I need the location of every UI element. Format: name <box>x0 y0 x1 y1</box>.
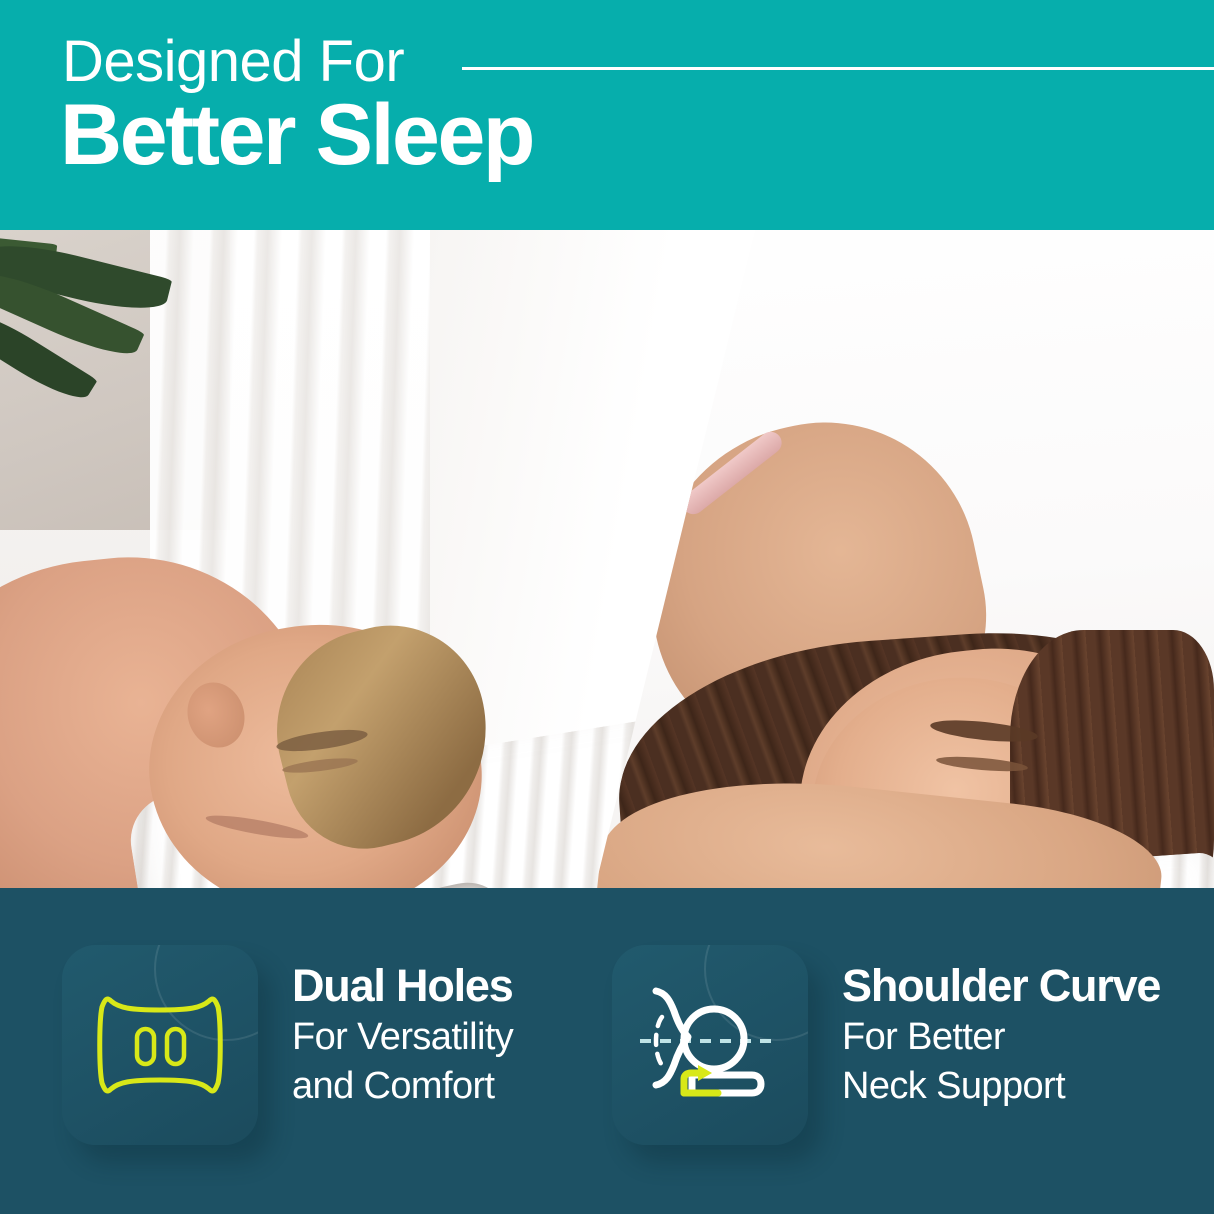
plant-leaves <box>0 238 220 418</box>
feature-title: Shoulder Curve <box>842 963 1160 1010</box>
feature-shoulder-curve: Shoulder Curve For Better Neck Support <box>612 945 1160 1145</box>
feature-subtitle-line2: and Comfort <box>292 1064 513 1108</box>
feature-subtitle-line1: For Better <box>842 1015 1160 1059</box>
header-rule-divider <box>462 67 1214 70</box>
header-eyebrow: Designed For <box>62 33 404 91</box>
feature-subtitle-line1: For Versatility <box>292 1015 513 1059</box>
feature-title: Dual Holes <box>292 963 513 1010</box>
photo-band: BLISSBURY <box>0 230 1214 888</box>
feature-subtitle-line2: Neck Support <box>842 1064 1160 1108</box>
product-infographic: Designed For Better Sleep <box>0 0 1214 1214</box>
feature-text: Dual Holes For Versatility and Comfort <box>292 945 513 1108</box>
feature-icon-tile <box>62 945 258 1145</box>
shoulder-curve-icon <box>640 983 780 1107</box>
feature-text: Shoulder Curve For Better Neck Support <box>842 945 1160 1108</box>
pillow-dual-holes-icon <box>95 993 225 1097</box>
header-banner: Designed For Better Sleep <box>0 0 1214 230</box>
feature-icon-tile <box>612 945 808 1145</box>
feature-dual-holes: Dual Holes For Versatility and Comfort <box>62 945 513 1145</box>
page-title: Better Sleep <box>60 92 533 178</box>
